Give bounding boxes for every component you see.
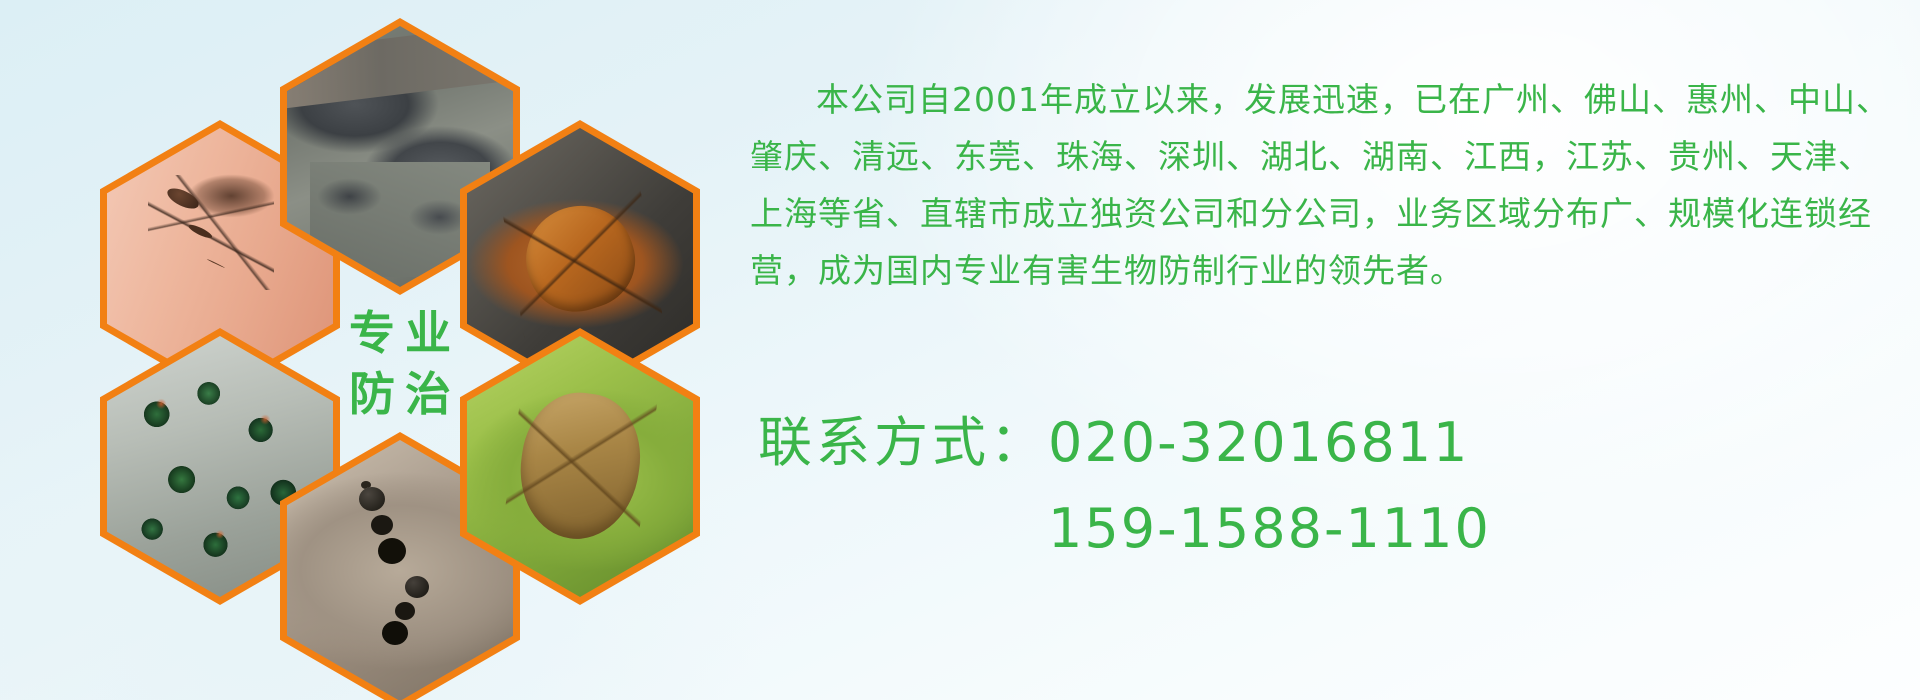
banner-content: 本公司自2001年成立以来，发展迅速，已在广州、佛山、惠州、中山、肇庆、清远、东…	[740, 0, 1900, 700]
hex-center-slogan: 专业 防治	[280, 225, 520, 502]
hex-slogan-line-2: 防治	[339, 369, 461, 420]
hex-photo-cluster: 专业 防治	[100, 0, 700, 700]
contact-line-secondary: 159-1588-1110	[758, 486, 1878, 572]
contact-label: 联系方式：	[758, 411, 1048, 474]
company-intro-banner: 专业 防治 本公司自2001年成立以来，发展迅速，已在广州、佛山、惠州、中山、肇…	[0, 0, 1920, 700]
contact-line-primary: 联系方式：020-32016811	[758, 400, 1878, 486]
company-intro-paragraph: 本公司自2001年成立以来，发展迅速，已在广州、佛山、惠州、中山、肇庆、清远、东…	[750, 71, 1900, 299]
contact-phone-primary[interactable]: 020-32016811	[1048, 411, 1469, 474]
contact-block: 联系方式：020-32016811 159-1588-1110	[758, 400, 1878, 572]
hex-slogan-line-1: 专业	[339, 308, 461, 359]
contact-phone-secondary[interactable]: 159-1588-1110	[1048, 497, 1491, 560]
